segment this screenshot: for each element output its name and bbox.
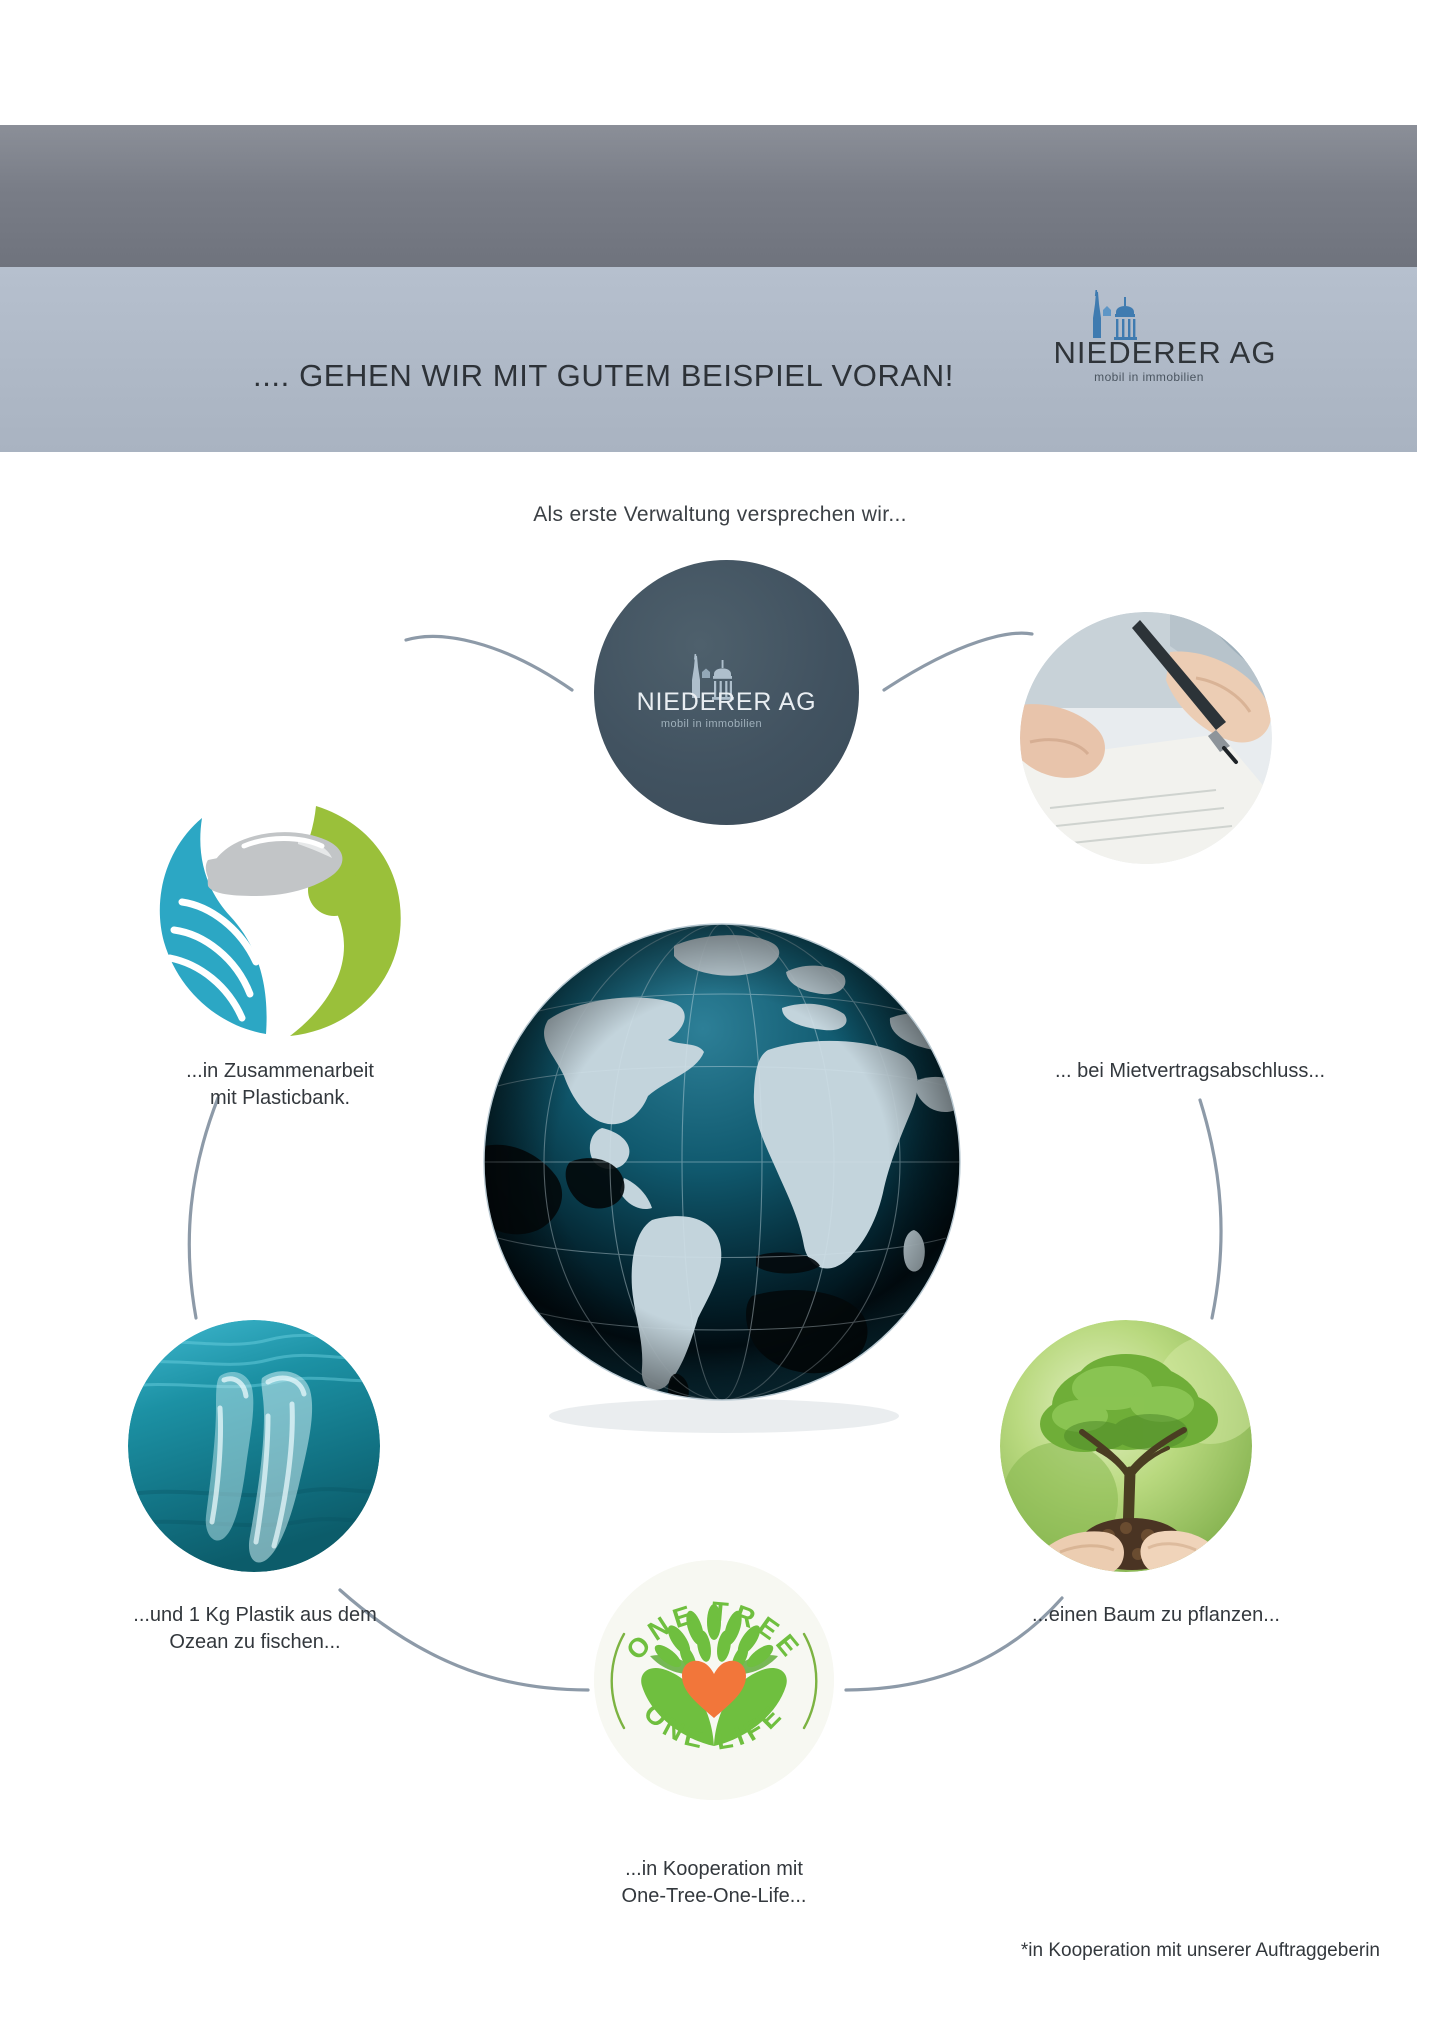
one-tree-one-life-badge: ONE TREE ONE LIFE [594, 1560, 834, 1800]
caption-tree: ...einen Baum zu pflanzen... [966, 1602, 1346, 1629]
plasticbank-logo [148, 782, 410, 1044]
infographic-page: WEIL NACHHALTIGKEIT UNS ALLE BETRIFFT...… [0, 0, 1440, 2039]
contract-signing-photo [1020, 612, 1272, 864]
caption-contract: ... bei Mietvertragsabschluss... [1000, 1058, 1380, 1085]
hands-planting-tree-photo [1000, 1320, 1252, 1572]
caption-one-tree-one-life: ...in Kooperation mit One-Tree-One-Life.… [524, 1856, 904, 1910]
hub-brand-name: NIEDERER AG [594, 688, 859, 717]
earth-globe-icon [452, 900, 992, 1440]
hub-node-niederer: NIEDERER AG mobil in immobilien [594, 560, 859, 825]
footnote: *in Kooperation mit unserer Auftraggeber… [0, 1940, 1380, 1962]
hub-brand-tagline: mobil in immobilien [594, 718, 829, 730]
ocean-plastic-photo [128, 1320, 380, 1572]
caption-ocean-plastic: ...und 1 Kg Plastik aus dem Ozean zu fis… [66, 1602, 444, 1656]
caption-plasticbank: ...in Zusammenarbeit mit Plasticbank. [96, 1058, 464, 1112]
